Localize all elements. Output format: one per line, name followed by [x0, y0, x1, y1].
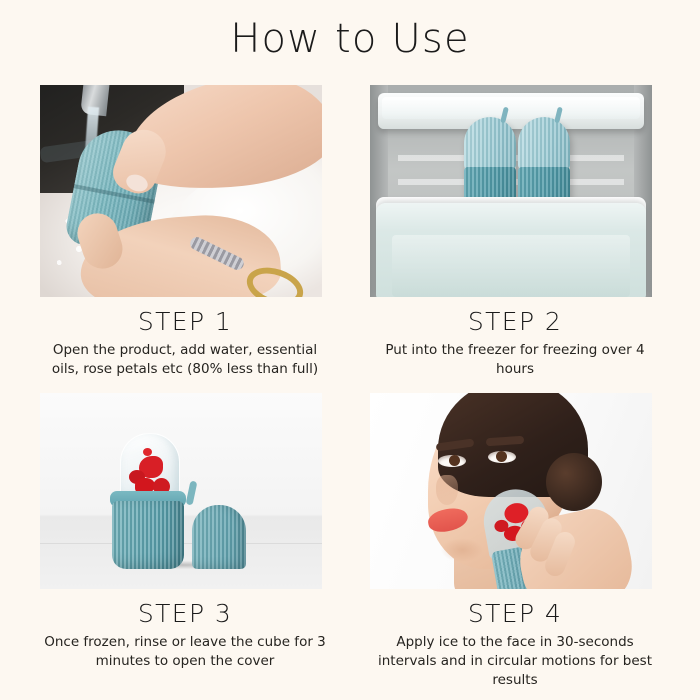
model-nose	[436, 475, 458, 505]
step-1-label: STEP 1	[40, 307, 330, 336]
step-card-4: STEP 4 Apply ice to the face in 30-secon…	[370, 393, 660, 690]
step-card-3: STEP 3 Once frozen, rinse or leave the c…	[40, 393, 330, 671]
mold-body	[112, 501, 184, 569]
step-1-caption: Open the product, add water, essential o…	[40, 341, 330, 379]
step-2-photo	[370, 85, 652, 297]
model-hair-bun	[546, 453, 602, 511]
page-title: How to Use	[0, 16, 700, 62]
model-iris-right	[496, 451, 507, 462]
step-3-photo	[40, 393, 322, 589]
model-chin-shadow	[432, 533, 492, 567]
step-4-label: STEP 4	[370, 599, 660, 628]
roller-cap	[518, 117, 570, 169]
step-3-caption: Once frozen, rinse or leave the cube for…	[40, 633, 330, 671]
step-2-label: STEP 2	[370, 307, 660, 336]
step-1-photo	[40, 85, 322, 297]
how-to-use-infographic: How to Use STEP 1 Open the product, add …	[0, 0, 700, 700]
mold-cover	[192, 505, 246, 569]
roller-cap	[464, 117, 516, 169]
model-iris-left	[449, 455, 460, 466]
rose-petal	[143, 448, 152, 456]
step-4-photo	[370, 393, 652, 589]
step-2-caption: Put into the freezer for freezing over 4…	[370, 341, 660, 379]
freezer-drawer-panel	[392, 235, 630, 297]
freezer-glass-shelf	[378, 93, 644, 129]
step-card-1: STEP 1 Open the product, add water, esse…	[40, 85, 330, 379]
step-3-label: STEP 3	[40, 599, 330, 628]
step-card-2: STEP 2 Put into the freezer for freezing…	[370, 85, 660, 379]
step-4-caption: Apply ice to the face in 30-seconds inte…	[370, 633, 660, 690]
